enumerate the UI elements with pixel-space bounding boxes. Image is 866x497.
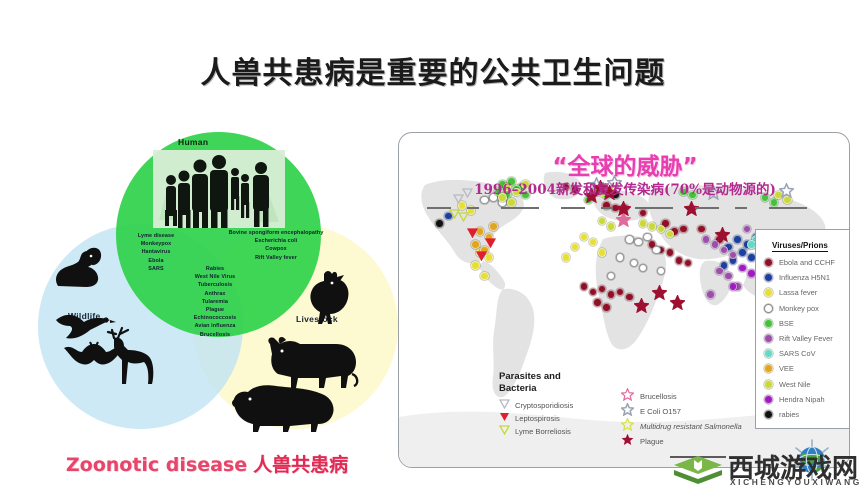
map-marker: [715, 267, 724, 276]
circle-marker-icon: [764, 304, 773, 313]
venn-label-human: Human: [178, 137, 208, 147]
legend-label: Leptospirosis: [515, 414, 560, 423]
legend-label: SARS CoV: [779, 349, 816, 358]
map-marker: [666, 230, 675, 239]
map-marker: [643, 233, 652, 242]
viruses-prions-legend: Viruses/Prions Ebola and CCHFInfluenza H…: [755, 229, 850, 429]
legend-label: VEE: [779, 364, 794, 373]
layers-logo-icon: [672, 454, 724, 486]
legend-item-lyme-borreliosis: Lyme Borreliosis: [499, 425, 573, 438]
legend-label: E Coli O157: [640, 407, 681, 416]
map-marker: [580, 282, 589, 291]
bacteria-star-legend: Brucellosis E Coli O157 Multidrug resist…: [621, 389, 742, 449]
legend-item-leptospirosis: Leptospirosis: [499, 412, 573, 425]
map-marker: [480, 272, 489, 281]
circle-marker-icon: [764, 364, 773, 373]
map-marker: [616, 253, 625, 262]
circle-marker-icon: [764, 273, 773, 282]
venn-caption-cn: 人兽共患病: [253, 454, 348, 476]
legend-item-bse: BSE: [762, 316, 850, 331]
map-marker: [507, 198, 516, 207]
map-marker: [702, 235, 711, 244]
legend-label: Rift Valley Fever: [779, 334, 833, 343]
map-marker: [670, 295, 685, 315]
legend-item-influenza-h5n1: Influenza H5N1: [762, 270, 850, 285]
map-marker: [580, 233, 589, 242]
pig-icon: [230, 382, 338, 434]
legend-label: Ebola and CCHF: [779, 258, 835, 267]
map-marker: [589, 288, 598, 297]
overlap-text-center: RabiesWest Nile VirusTuberculosisAnthrax…: [169, 265, 261, 339]
map-marker: [729, 282, 738, 291]
legend-item-ebola-and-cchf: Ebola and CCHF: [762, 255, 850, 270]
map-marker: [589, 238, 598, 247]
map-marker: [738, 264, 747, 273]
legend-label: Cryptosporidiosis: [515, 401, 573, 410]
map-marker: [706, 290, 715, 299]
legend-label: Lyme Borreliosis: [515, 427, 571, 436]
map-marker: [684, 259, 693, 268]
global-threat-map-panel: “全球的威胁” 1996–2004新发和复发传染病(70%是动物源的): [398, 132, 850, 468]
venn-diagram-panel: Human Wildlife Livestock Lyme diseaseMon…: [28, 128, 386, 488]
map-marker: [607, 222, 616, 231]
map-marker: [733, 235, 742, 244]
venn-stage: Human Wildlife Livestock Lyme diseaseMon…: [28, 128, 386, 446]
triangle-down-outline-icon: [499, 422, 510, 440]
map-marker: [770, 198, 779, 207]
legend-item-vee: VEE: [762, 361, 850, 376]
circle-marker-icon: [764, 334, 773, 343]
legend-item-west-nile: West Nile: [762, 377, 850, 392]
legend-item-sars-cov: SARS CoV: [762, 346, 850, 361]
map-marker: [684, 201, 699, 221]
map-marker: [562, 253, 571, 262]
overlap-text-human-livestock: Bovine spongiform encephalopathyEscheric…: [220, 229, 332, 262]
map-marker: [666, 248, 675, 257]
map-marker: [607, 290, 616, 299]
venn-caption: Zoonotic disease人兽共患病: [28, 450, 386, 477]
legend-item-ecoli-o157: E Coli O157: [621, 404, 742, 419]
map-title-divider: [427, 207, 823, 209]
venn-caption-en: Zoonotic disease: [66, 454, 247, 476]
star-icon: [621, 433, 634, 451]
watermark-pinyin: XICHENGYOUXIWANG: [730, 477, 862, 487]
map-marker: [467, 225, 478, 243]
map-subtitle: 1996–2004新发和复发传染病(70%是动物源的): [399, 178, 850, 198]
legend-label: rabies: [779, 410, 799, 419]
legend-item-hendra-nipah: Hendra Nipah: [762, 392, 850, 407]
circle-marker-icon: [764, 319, 773, 328]
map-marker: [639, 209, 648, 218]
map-marker: [652, 285, 667, 305]
legend-label: Brucellosis: [640, 392, 677, 401]
deer-icon: [106, 324, 164, 386]
map-marker: [679, 225, 688, 234]
map-marker: [616, 201, 631, 221]
legend-item-rift-valley-fever: Rift Valley Fever: [762, 331, 850, 346]
squirrel-icon: [50, 246, 102, 288]
map-marker: [675, 256, 684, 265]
human-silhouettes-icon: [153, 150, 285, 228]
circle-marker-icon: [764, 258, 773, 267]
legend-item-monkey-pox: Monkey pox: [762, 301, 850, 316]
human-group-photo: [153, 150, 285, 228]
legend-item-multidrug-salmonella: Multidrug resistant Salmonella: [621, 419, 742, 434]
map-marker: [729, 251, 738, 260]
map-marker: [571, 243, 580, 252]
map-marker: [625, 293, 634, 302]
circle-marker-icon: [764, 395, 773, 404]
map-marker: [593, 298, 602, 307]
legend-label: Influenza H5N1: [779, 273, 830, 282]
viruses-legend-title: Viruses/Prions: [772, 241, 828, 252]
legend-item-rabies: rabies: [762, 407, 850, 422]
map-marker: [458, 209, 469, 227]
map-marker: [652, 246, 661, 255]
map-marker: [743, 225, 752, 234]
viruses-legend-rows: Ebola and CCHFInfluenza H5N1Lassa feverM…: [762, 255, 850, 422]
map-title: “全球的威胁”: [399, 147, 850, 181]
legend-item-cryptosporidiosis: Cryptosporidiosis: [499, 399, 573, 412]
map-marker: [476, 248, 487, 266]
map-marker: [648, 222, 657, 231]
map-marker: [697, 225, 706, 234]
legend-label: Hendra Nipah: [779, 395, 825, 404]
legend-label: West Nile: [779, 380, 811, 389]
circle-marker-icon: [764, 410, 773, 419]
map-marker: [639, 264, 648, 273]
map-marker: [598, 285, 607, 294]
circle-marker-icon: [764, 349, 773, 358]
legend-label: BSE: [779, 319, 794, 328]
legend-label: Multidrug resistant Salmonella: [640, 422, 742, 431]
map-marker: [607, 272, 616, 281]
legend-label: Monkey pox: [779, 304, 819, 313]
map-marker: [435, 219, 444, 228]
circle-marker-icon: [764, 288, 773, 297]
map-marker: [657, 225, 666, 234]
map-marker: [724, 272, 733, 281]
map-marker: [639, 219, 648, 228]
map-marker: [489, 222, 498, 231]
parasites-bacteria-legend: Parasites andBacteria Cryptosporidiosis …: [499, 371, 573, 438]
map-marker: [598, 248, 607, 257]
map-marker: [657, 267, 666, 276]
map-marker: [634, 298, 649, 318]
legend-item-lassa-fever: Lassa fever: [762, 285, 850, 300]
page-title: 人兽共患病是重要的公共卫生问题: [0, 48, 866, 92]
map-marker: [715, 227, 730, 247]
legend-label: Plague: [640, 437, 664, 446]
map-marker: [738, 248, 747, 257]
legend-item-brucellosis: Brucellosis: [621, 389, 742, 404]
rooster-icon: [304, 268, 352, 326]
circle-marker-icon: [764, 380, 773, 389]
map-marker: [616, 288, 625, 297]
map-marker: [630, 259, 639, 268]
map-marker: [598, 217, 607, 226]
watermark: 西城游戏网 XICHENGYOUXIWANG: [672, 444, 862, 494]
parasites-legend-title: Parasites andBacteria: [499, 371, 573, 395]
map-marker: [634, 238, 643, 247]
legend-label: Lassa fever: [779, 288, 817, 297]
map-marker: [625, 235, 634, 244]
map-marker: [602, 303, 611, 312]
